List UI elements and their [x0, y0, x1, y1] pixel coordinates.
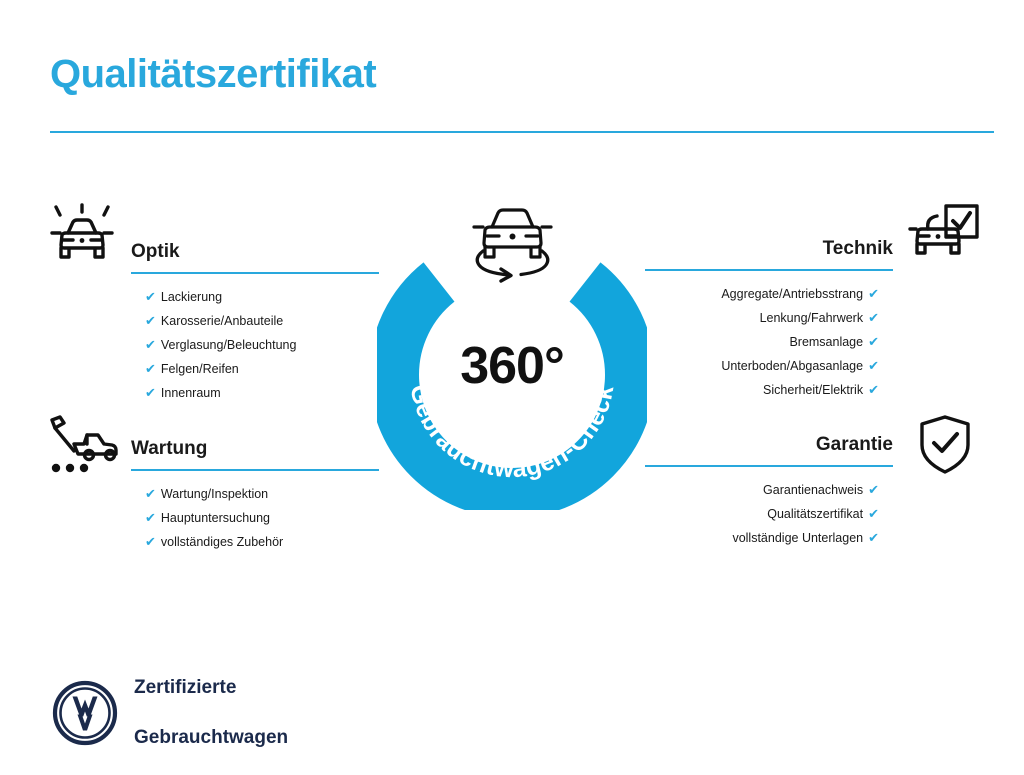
section-title: Optik — [131, 240, 379, 264]
check-icon: ✔ — [145, 313, 156, 328]
volkswagen-logo — [52, 680, 118, 746]
badge-360-gebrauchtwagen-check: Gebrauchtwagen-Check 360° — [377, 240, 647, 510]
section-list: Aggregate/Antriebsstrang✔ Lenkung/Fahrwe… — [645, 282, 893, 402]
section-title: Wartung — [131, 437, 379, 461]
footer-line-1: Zertifizierte — [134, 675, 288, 700]
title-divider — [50, 131, 994, 133]
check-icon: ✔ — [145, 486, 156, 501]
section-header: Optik — [131, 240, 379, 274]
list-item: ✔Verglasung/Beleuchtung — [131, 333, 379, 357]
list-item-label: Innenraum — [161, 386, 221, 400]
list-item-label: Hauptuntersuchung — [161, 511, 270, 525]
badge-value: 360° — [377, 336, 647, 396]
check-icon: ✔ — [868, 530, 879, 545]
list-item-label: Felgen/Reifen — [161, 362, 239, 376]
car-rotate-icon — [465, 195, 560, 290]
list-item: Unterboden/Abgasanlage✔ — [645, 354, 893, 378]
section-header: Garantie — [645, 433, 893, 467]
section-list: ✔Lackierung ✔Karosserie/Anbauteile ✔Verg… — [131, 285, 379, 405]
section-header: Wartung — [131, 437, 379, 471]
check-icon: ✔ — [868, 506, 879, 521]
list-item: Garantienachweis✔ — [645, 478, 893, 502]
section-list: ✔Wartung/Inspektion ✔Hauptuntersuchung ✔… — [131, 482, 379, 554]
list-item-label: Wartung/Inspektion — [161, 487, 268, 501]
service-tool-car-icon — [46, 414, 124, 481]
list-item: ✔Felgen/Reifen — [131, 357, 379, 381]
check-icon: ✔ — [868, 286, 879, 301]
check-icon: ✔ — [145, 385, 156, 400]
section-technik: Technik Aggregate/Antriebsstrang✔ Lenkun… — [645, 237, 893, 402]
section-header: Technik — [645, 237, 893, 271]
list-item: Qualitätszertifikat✔ — [645, 502, 893, 526]
list-item-label: Bremsanlage — [789, 335, 863, 349]
list-item: ✔Hauptuntersuchung — [131, 506, 379, 530]
check-icon: ✔ — [145, 337, 156, 352]
footer-logo-text: Zertifizierte Gebrauchtwagen — [134, 650, 288, 775]
section-divider — [645, 465, 893, 467]
check-icon: ✔ — [868, 482, 879, 497]
check-icon: ✔ — [868, 310, 879, 325]
list-item: Bremsanlage✔ — [645, 330, 893, 354]
list-item-label: vollständige Unterlagen — [732, 531, 863, 545]
list-item-label: Sicherheit/Elektrik — [763, 383, 863, 397]
section-wartung: Wartung ✔Wartung/Inspektion ✔Hauptunters… — [131, 437, 379, 554]
car-checkbox-icon — [908, 203, 980, 272]
section-title: Garantie — [645, 433, 893, 457]
section-divider — [131, 469, 379, 471]
list-item-label: Lenkung/Fahrwerk — [760, 311, 864, 325]
list-item: ✔vollständiges Zubehör — [131, 530, 379, 554]
list-item: ✔Innenraum — [131, 381, 379, 405]
list-item-label: Garantienachweis — [763, 483, 863, 497]
section-title: Technik — [645, 237, 893, 261]
list-item-label: vollständiges Zubehör — [161, 535, 283, 549]
check-icon: ✔ — [868, 334, 879, 349]
list-item: ✔Wartung/Inspektion — [131, 482, 379, 506]
list-item: Aggregate/Antriebsstrang✔ — [645, 282, 893, 306]
check-icon: ✔ — [145, 289, 156, 304]
list-item: vollständige Unterlagen✔ — [645, 526, 893, 550]
list-item-label: Verglasung/Beleuchtung — [161, 338, 297, 352]
page-title: Qualitätszertifikat — [50, 52, 376, 97]
section-optik: Optik ✔Lackierung ✔Karosserie/Anbauteile… — [131, 240, 379, 405]
check-icon: ✔ — [868, 382, 879, 397]
check-icon: ✔ — [145, 361, 156, 376]
section-garantie: Garantie Garantienachweis✔ Qualitätszert… — [645, 433, 893, 550]
list-item-label: Karosserie/Anbauteile — [161, 314, 283, 328]
check-icon: ✔ — [868, 358, 879, 373]
list-item-label: Lackierung — [161, 290, 222, 304]
list-item: ✔Lackierung — [131, 285, 379, 309]
shield-check-icon — [916, 414, 974, 481]
footer-logo: Zertifizierte Gebrauchtwagen — [52, 650, 288, 775]
section-list: Garantienachweis✔ Qualitätszertifikat✔ v… — [645, 478, 893, 550]
check-icon: ✔ — [145, 534, 156, 549]
list-item-label: Aggregate/Antriebsstrang — [721, 287, 863, 301]
list-item-label: Qualitätszertifikat — [767, 507, 863, 521]
car-shine-icon — [46, 203, 118, 278]
list-item: Sicherheit/Elektrik✔ — [645, 378, 893, 402]
list-item: Lenkung/Fahrwerk✔ — [645, 306, 893, 330]
check-icon: ✔ — [145, 510, 156, 525]
footer-line-2: Gebrauchtwagen — [134, 725, 288, 750]
list-item: ✔Karosserie/Anbauteile — [131, 309, 379, 333]
list-item-label: Unterboden/Abgasanlage — [721, 359, 863, 373]
section-divider — [645, 269, 893, 271]
section-divider — [131, 272, 379, 274]
